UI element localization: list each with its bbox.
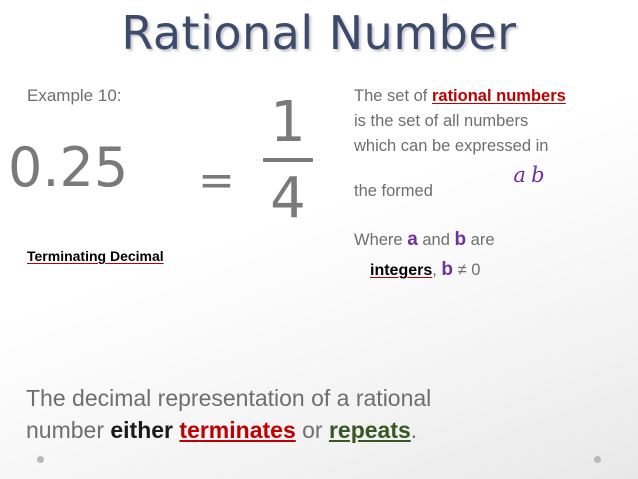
where-and: and xyxy=(418,231,455,249)
fraction-one-fourth: 1 4 xyxy=(248,92,328,230)
where-row: Where a and b are xyxy=(354,227,626,253)
definition-line-2: is the set of all numbers xyxy=(354,109,626,134)
repeats-highlight: repeats xyxy=(329,417,411,443)
variable-a: a xyxy=(407,229,418,250)
either-highlight: either xyxy=(110,417,173,443)
definition-line1-prefix: The set of xyxy=(354,87,432,105)
fraction-a: a xyxy=(513,163,526,187)
equals-sign: = xyxy=(198,155,235,206)
variable-b: b xyxy=(454,229,466,250)
fraction-a-over-b: a b xyxy=(504,163,554,189)
bottom-summary: The decimal representation of a rational… xyxy=(26,382,616,446)
definition-line-1: The set of rational numbers xyxy=(354,84,626,109)
where-prefix: Where xyxy=(354,231,407,249)
definition-line-3: which can be expressed in xyxy=(354,134,626,159)
integers-highlight: integers xyxy=(370,262,432,279)
definition-line-4: the formed xyxy=(354,179,433,204)
not-equal-zero: ≠ 0 xyxy=(453,261,480,279)
fraction-bar xyxy=(263,158,313,162)
decorative-dot-right xyxy=(594,456,601,463)
variable-b-condition: b xyxy=(441,259,453,280)
where-suffix: are xyxy=(466,231,494,249)
rational-numbers-highlight: rational numbers xyxy=(432,87,566,105)
bottom-line-1: The decimal representation of a rational xyxy=(26,385,431,411)
decorative-dot-left xyxy=(37,456,44,463)
definition-block: The set of rational numbers is the set o… xyxy=(354,84,626,283)
example-label: Example 10: xyxy=(27,86,122,106)
fraction-denominator: 4 xyxy=(248,168,328,230)
terminates-highlight: terminates xyxy=(179,417,295,443)
integers-row: integers, b ≠ 0 xyxy=(354,257,626,283)
terminating-decimal-caption: Terminating Decimal xyxy=(27,248,164,264)
fraction-b: b xyxy=(531,163,544,187)
slide-title: Rational Number xyxy=(0,6,638,60)
formed-row: the formed a b xyxy=(354,163,626,225)
bottom-line2-part1: number xyxy=(26,417,110,443)
bottom-line2-part4: . xyxy=(411,417,417,443)
decimal-value: 0.25 xyxy=(8,136,128,199)
slide: Rational Number Example 10: 0.25 = 1 4 T… xyxy=(0,0,638,479)
fraction-numerator: 1 xyxy=(248,92,328,154)
bottom-line2-part3: or xyxy=(296,417,329,443)
